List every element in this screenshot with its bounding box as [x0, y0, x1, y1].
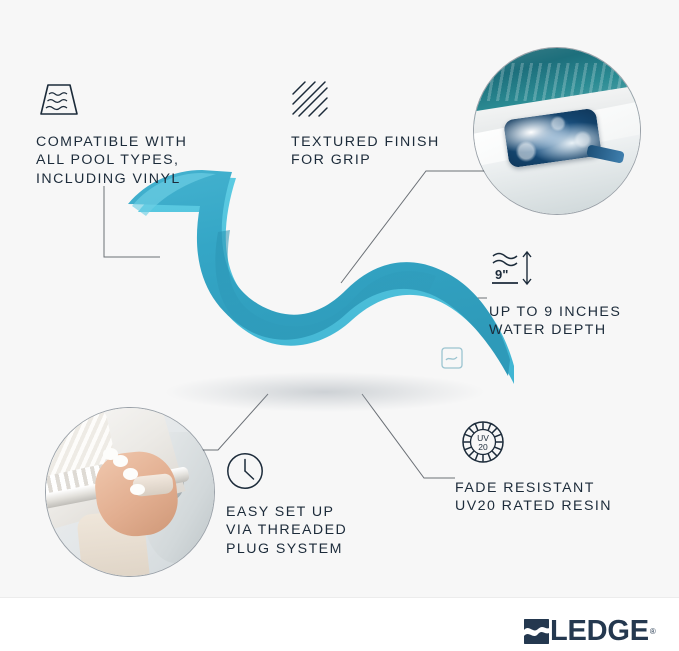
- plug-photo: [46, 408, 214, 576]
- ledge-logo-wordmark: LEDGE: [550, 617, 649, 646]
- callout-easy-setup-text: EASY SET UP VIA THREADED PLUG SYSTEM: [226, 503, 347, 558]
- lounger-chair: [110, 170, 530, 415]
- embossed-ledge-badge: [442, 348, 462, 368]
- callout-fade-resistant: UV 20 FADE RESISTANT UV20 RATED RESIN: [461, 420, 612, 516]
- pool-cross-section-icon: [36, 80, 82, 120]
- callout-fade-resistant-text: FADE RESISTANT UV20 RATED RESIN: [455, 479, 612, 516]
- callout-textured-finish-text: TEXTURED FINISH FOR GRIP: [291, 133, 440, 170]
- uv-icon-label-bottom: 20: [478, 442, 488, 452]
- callout-pool-types: COMPATIBLE WITH ALL POOL TYPES, INCLUDIN…: [36, 80, 187, 188]
- clock-icon: [226, 452, 264, 490]
- pillow-photo: [474, 48, 640, 214]
- callout-easy-setup: EASY SET UP VIA THREADED PLUG SYSTEM: [226, 452, 347, 558]
- callout-textured-finish: TEXTURED FINISH FOR GRIP: [291, 80, 440, 170]
- ledge-logo-mark: [524, 619, 549, 644]
- ledge-logo-trademark: ®: [650, 627, 656, 636]
- hatch-texture-icon: [291, 80, 331, 120]
- callout-pool-types-text: COMPATIBLE WITH ALL POOL TYPES, INCLUDIN…: [36, 133, 187, 188]
- lounger-seat-shading: [215, 230, 436, 340]
- callout-water-depth-text: UP TO 9 INCHES WATER DEPTH: [489, 303, 621, 340]
- water-depth-icon: 9": [489, 248, 541, 290]
- lounger-body: [128, 170, 510, 376]
- water-depth-icon-label: 9": [495, 267, 508, 282]
- uv-sun-icon: UV 20: [461, 420, 505, 464]
- lounger-shadow: [165, 372, 485, 412]
- infographic-stage: COMPATIBLE WITH ALL POOL TYPES, INCLUDIN…: [0, 0, 679, 651]
- ledge-logo: LEDGE ®: [524, 617, 656, 646]
- callout-water-depth: 9" UP TO 9 INCHES WATER DEPTH: [489, 248, 621, 340]
